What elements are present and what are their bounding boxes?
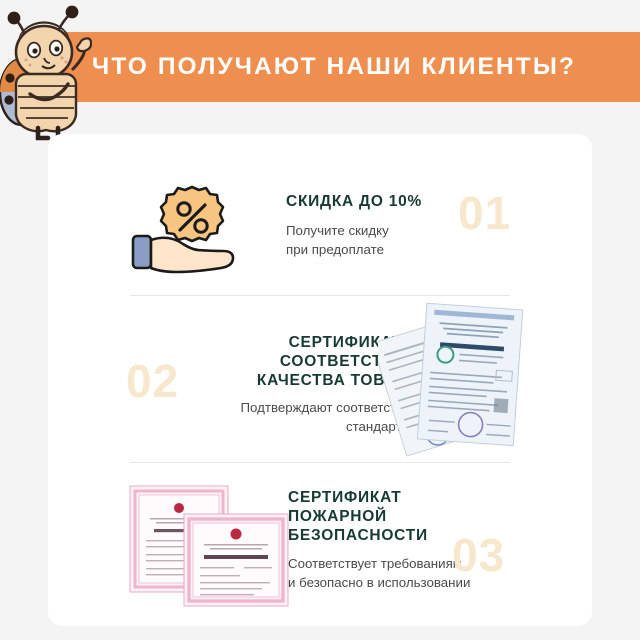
hand-holding-percent-badge-icon [128, 182, 248, 282]
benefit-3-heading-line-1: СЕРТИФИКАТ [288, 488, 533, 507]
benefit-1-text: СКИДКА ДО 10% Получите скидку при предоп… [286, 192, 486, 259]
benefit-1-description: Получите скидку при предоплате [286, 222, 486, 259]
benefit-1-description-line-1: Получите скидку [286, 222, 486, 241]
ladybug-mascot-icon [0, 0, 92, 142]
benefit-1-description-line-2: при предоплате [286, 241, 486, 260]
blue-certificates-photo [378, 301, 538, 459]
benefit-1-number: 01 [458, 190, 511, 236]
page-title: ЧТО ПОЛУЧАЮТ НАШИ КЛИЕНТЫ? [92, 32, 612, 102]
page-root: ЧТО ПОЛУЧАЮТ НАШИ КЛИЕНТЫ? [0, 0, 640, 640]
benefits-card: СКИДКА ДО 10% Получите скидку при предоп… [48, 134, 592, 626]
benefit-item-3: СЕРТИФИКАТ ПОЖАРНОЙ БЕЗОПАСНОСТИ Соответ… [48, 462, 592, 626]
benefit-1-heading: СКИДКА ДО 10% [286, 192, 486, 211]
benefit-3-heading-line-2: ПОЖАРНОЙ [288, 507, 533, 526]
pink-certificates-photo [126, 480, 291, 610]
benefit-item-2: 02 СЕРТИФИКАТЫ СООТВЕТСТВИЯ КАЧЕСТВА ТОВ… [48, 295, 592, 462]
benefit-3-number: 03 [452, 532, 505, 578]
benefit-item-1: СКИДКА ДО 10% Получите скидку при предоп… [48, 158, 592, 295]
